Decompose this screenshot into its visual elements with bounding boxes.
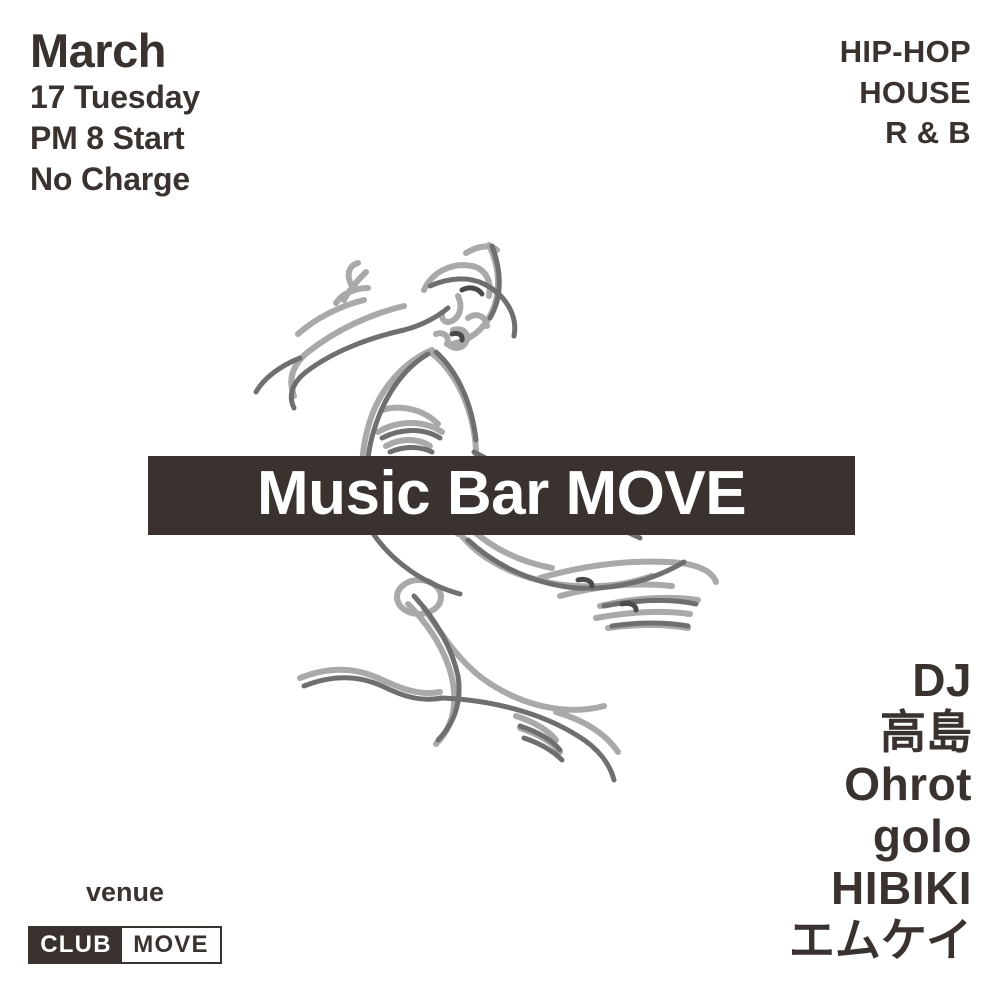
genre-item-hiphop: HIP-HOP: [840, 32, 971, 73]
genre-item-house: HOUSE: [840, 73, 971, 114]
dj-name-golo: golo: [789, 811, 972, 863]
dj-name-ohrot: Ohrot: [789, 759, 972, 811]
poster-canvas: March 17 Tuesday PM 8 Start No Charge HI…: [0, 0, 1000, 1000]
title-text: Music Bar MOVE: [257, 463, 746, 529]
event-info-block: March 17 Tuesday PM 8 Start No Charge: [30, 26, 200, 201]
dj-label: DJ: [789, 655, 972, 707]
venue-block: venue CLUB MOVE: [28, 878, 222, 964]
event-time: PM 8 Start: [30, 118, 200, 159]
dj-lineup-list: DJ 高島 Ohrot golo HIBIKI エムケイ: [789, 655, 972, 967]
dj-name-emukei: エムケイ: [789, 915, 972, 967]
dj-name-hibiki: HIBIKI: [789, 863, 972, 915]
venue-label: venue: [28, 878, 222, 908]
genre-list: HIP-HOP HOUSE R & B: [840, 32, 971, 154]
dj-name-takashima: 高島: [789, 707, 972, 759]
event-day: 17 Tuesday: [30, 77, 200, 118]
title-banner: Music Bar MOVE: [148, 456, 855, 535]
logo-move-text: MOVE: [122, 928, 220, 962]
event-month: March: [30, 26, 200, 77]
genre-item-rnb: R & B: [840, 113, 971, 154]
event-price: No Charge: [30, 159, 200, 200]
logo-club-text: CLUB: [30, 928, 122, 962]
club-move-logo: CLUB MOVE: [28, 926, 222, 964]
